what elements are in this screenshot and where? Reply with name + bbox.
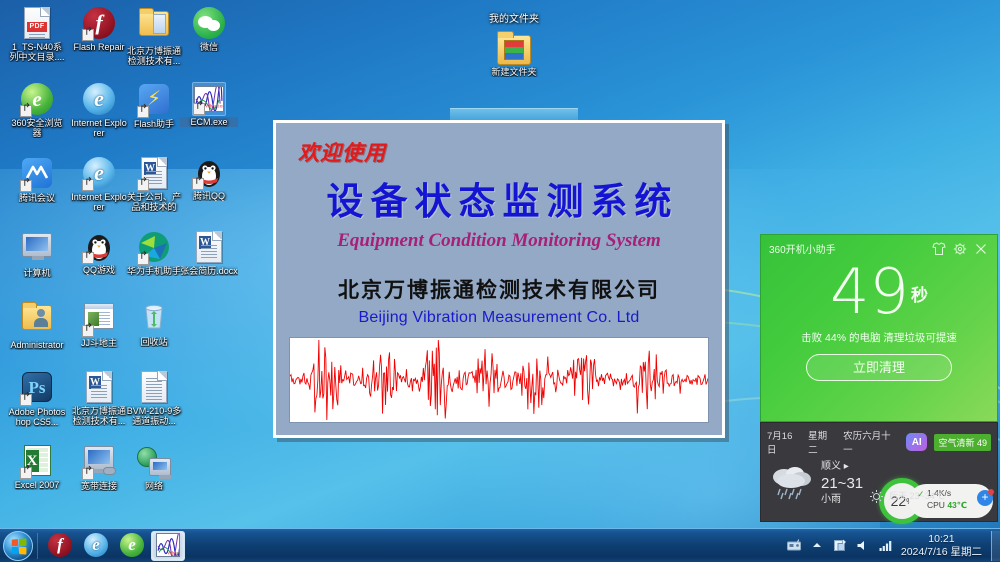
tray-action-center-icon[interactable] [832,538,848,553]
text-doc-icon [137,371,171,405]
weather-lunar: 农历六月十一 [843,428,899,456]
shortcut-arrow-icon [82,468,94,480]
weather-weekday: 星期二 [808,428,836,456]
clock-time: 10:21 [901,533,982,546]
desktop-icon-photoshop[interactable]: PsAdobe Photoshop CS5... [8,370,66,427]
folder-window-body[interactable]: 新建文件夹 [450,25,578,77]
desktop-icon-text-doc[interactable]: BVM-210-9多通道振动... [125,370,183,426]
weather-date: 7月16日 [767,428,801,456]
wechat-icon [192,7,226,41]
windows-logo-icon [12,538,27,554]
taskbar-internet-explorer[interactable]: e [79,531,113,561]
desktop-icon-label: Internet Explorer [70,118,128,138]
huawei-assistant-icon [137,231,171,265]
company-name-chinese: 北京万博振通检测技术有限公司 [276,274,722,304]
desktop-icon-label: 网络 [125,481,183,491]
flash-helper-icon: ⚡ [137,84,171,118]
new-folder-label: 新建文件夹 [450,67,578,77]
shirt-icon[interactable] [931,242,947,256]
add-widget-button[interactable]: + [977,490,993,506]
rain-cloud-icon [767,460,819,504]
computer-icon [20,233,54,267]
desktop-icon-label: 宽带连接 [70,481,128,491]
shortcut-arrow-icon [192,178,204,190]
internet-explorer-icon: e [83,532,109,558]
desktop-icon-label: QQ游戏 [70,265,128,275]
close-icon[interactable] [973,242,989,256]
gear-icon[interactable] [952,242,968,256]
desktop-icon-computer[interactable]: 计算机 [8,230,66,278]
desktop-icon-jj-landlord[interactable]: JJ斗地主 [70,300,128,348]
desktop-icon-wechat[interactable]: 微信 [180,6,238,52]
jj-landlord-icon [82,303,116,337]
qq-penguin-icon [192,156,226,190]
desktop-icon-network[interactable]: 网络 [125,444,183,491]
weather-temp-range: 21~31 [821,474,863,493]
weather-location-block[interactable]: 顺义 ▸ 21~31 小雨 [821,460,863,507]
widget-header: 360开机小助手 [761,235,997,256]
system-tray[interactable]: 10:21 2024/7/16 星期二 [786,533,988,559]
desktop-icon-360-browser[interactable]: e360安全浏览器 [8,82,66,138]
weather-forecast: 后天 23~34℃ [889,489,945,502]
desktop-icon-label: 1_TS-N40系列中文目录.... [8,42,66,62]
desktop-icon-excel[interactable]: XExcel 2007 [8,444,66,490]
360-boot-assistant-widget[interactable]: 360开机小助手 49秒 击败 44% 的电脑 清理垃圾可提速 立即清理 [760,234,998,422]
boot-time-value: 49秒 [761,260,997,328]
taskbar[interactable]: feevibration 10:21 2024/7/16 星期二 [0,528,1000,562]
desktop-icon-label: Administrator [8,340,66,350]
word-doc-icon: W [137,157,171,191]
flash-icon: f [82,7,116,41]
new-folder-icon[interactable] [497,35,531,65]
recycle-bin-icon [137,302,171,336]
start-button[interactable] [3,531,33,561]
widget-title: 360开机小助手 [769,241,926,256]
desktop-icon-label: 腾讯会议 [8,193,66,203]
pdf-doc-icon: PDF [20,7,54,41]
boot-time-unit: 秒 [911,286,928,306]
weather-condition: 小雨 [821,493,863,507]
desktop-icon-broadband-connection[interactable]: 宽带连接 [70,444,128,491]
svg-text:vibration: vibration [167,550,180,556]
360-browser-icon: e [20,83,54,117]
shortcut-arrow-icon [20,180,32,192]
tray-hardware-icon[interactable] [786,538,802,553]
taskbar-360-browser[interactable]: e [115,531,149,561]
taskbar-ecm-app[interactable]: vibration [151,531,185,561]
desktop-icon-qq-penguin[interactable]: 腾讯QQ [180,156,238,201]
desktop-icon-label: Internet Explorer [70,192,128,212]
desktop-icon-label: 360安全浏览器 [8,118,66,138]
word-doc-icon: W [192,231,226,265]
shortcut-arrow-icon [82,29,94,41]
boot-time-subtitle: 击败 44% 的电脑 清理垃圾可提速 [761,330,997,345]
ecm-app-icon: vibration [155,532,181,558]
360-browser-icon: e [119,532,145,558]
desktop-icon-internet-explorer[interactable]: eInternet Explorer [70,156,128,212]
app-title-english: Equipment Condition Monitoring System [276,230,722,252]
desktop-icon-label: ECM.exe [180,117,238,127]
clean-now-button[interactable]: 立即清理 [806,354,952,381]
shortcut-arrow-icon [137,253,149,265]
taskbar-flash-repair[interactable]: f [43,531,77,561]
network-icon [137,446,171,480]
cpu-temp-value: 43℃ [947,500,967,510]
tray-show-hidden-icons[interactable] [809,538,825,553]
taskbar-clock[interactable]: 10:21 2024/7/16 星期二 [901,533,982,559]
folder-window[interactable]: 我的文件夹 新建文件夹 [450,2,578,122]
desktop-icon-flash-helper[interactable]: ⚡Flash助手 [125,82,183,129]
desktop-icon-ecm-app[interactable]: vibrationECM.exe [180,82,238,127]
excel-icon: X [20,445,54,479]
desktop-icon-word-doc[interactable]: W关于公司、产品和技术的介... [125,156,183,212]
welcome-text: 欢迎使用 [298,137,386,167]
desktop-icon-user-folder[interactable]: Administrator [8,300,66,350]
tray-volume-icon[interactable] [855,538,871,553]
folder-window-title: 我的文件夹 [450,2,578,25]
shortcut-arrow-icon [137,106,149,118]
desktop-icon-label: 计算机 [8,268,66,278]
flash-icon: f [47,532,73,558]
desktop-icon-label: 关于公司、产品和技术的介... [125,192,183,212]
desktop-icon-label: Excel 2007 [8,480,66,490]
desktop-icon-label: Flash Repair [70,42,128,52]
desktop-icon-folder[interactable]: 北京万博振通检测技术有... [125,6,183,66]
app-title-chinese: 设备状态监测系统 [276,171,722,225]
desktop-icon-recycle-bin[interactable]: 回收站 [125,300,183,347]
weather-monitor-widget[interactable]: 7月16日 星期二 农历六月十一 AI 空气清新 49 顺义 ▸ 21~31 小… [760,422,998,522]
tray-network-icon[interactable] [878,538,894,553]
desktop-icon-label: 北京万博振通检测技术有... [125,46,183,66]
desktop-icon-label: 腾讯QQ [180,191,238,201]
shortcut-arrow-icon [137,179,149,191]
qq-games-icon [82,230,116,264]
desktop-icon-word-doc[interactable]: W北京万博振通检测技术有... [70,370,128,426]
desktop-icon-huawei-assistant[interactable]: 华为手机助手 [125,230,183,276]
shortcut-arrow-icon [82,179,94,191]
broadband-connection-icon [82,446,116,480]
ecm-app-icon: vibration [192,82,226,116]
desktop-icon-label: 张会简历.docx [180,266,238,276]
weather-body: 顺义 ▸ 21~31 小雨 22% ✓ 1.4K/s CPU 43℃ + 后天 … [761,456,997,507]
desktop-icon-label: Flash助手 [125,119,183,129]
desktop-icon-tencent-meeting[interactable]: 腾讯会议 [8,156,66,203]
tencent-meeting-icon [20,158,54,192]
shortcut-arrow-icon [82,252,94,264]
waveform-svg [290,338,708,422]
shortcut-arrow-icon [193,103,205,115]
desktop-icon-flash[interactable]: fFlash Repair [70,6,128,52]
ai-badge[interactable]: AI [906,433,928,451]
svg-text:vibration: vibration [205,103,223,109]
desktop-icon-label: 回收站 [125,337,183,347]
weather-header: 7月16日 星期二 农历六月十一 AI 空气清新 49 [761,423,997,456]
desktop-icon-qq-games[interactable]: QQ游戏 [70,230,128,275]
vibration-waveform-chart [289,337,709,423]
air-quality-badge: 空气清新 49 [934,434,991,451]
internet-explorer-icon: e [82,83,116,117]
clock-date: 2024/7/16 星期二 [901,546,982,559]
internet-explorer-icon: e [82,157,116,191]
taskbar-separator [37,533,38,559]
company-name-english: Beijing Vibration Measurement Co. Ltd [276,309,722,327]
show-desktop-button[interactable] [991,531,1000,561]
splash-window[interactable]: 欢迎使用 设备状态监测系统 Equipment Condition Monito… [273,120,725,438]
desktop-icon-label: 微信 [180,42,238,52]
desktop-icon-internet-explorer[interactable]: eInternet Explorer [70,82,128,138]
desktop-icon-label: Adobe Photoshop CS5... [8,407,66,427]
sun-icon [869,489,884,504]
desktop-icon-label: JJ斗地主 [70,338,128,348]
shortcut-arrow-icon [20,467,32,479]
desktop-icon-word-doc[interactable]: W张会简历.docx [180,230,238,276]
photoshop-icon: Ps [20,372,54,406]
word-doc-icon: W [82,371,116,405]
taskbar-button-group: feevibration [42,531,186,561]
weather-city[interactable]: 顺义 ▸ [821,460,863,474]
shortcut-arrow-icon [82,325,94,337]
shortcut-arrow-icon [20,105,32,117]
boot-time-number: 49 [830,255,909,328]
desktop-icon-label: 北京万博振通检测技术有... [70,406,128,426]
folder-icon [137,11,171,45]
desktop-icon-label: 华为手机助手 [125,266,183,276]
user-folder-icon [20,305,54,339]
desktop-icon-label: BVM-210-9多通道振动... [125,406,183,426]
shortcut-arrow-icon [20,394,32,406]
desktop-icon-pdf-doc[interactable]: PDF1_TS-N40系列中文目录.... [8,6,66,62]
